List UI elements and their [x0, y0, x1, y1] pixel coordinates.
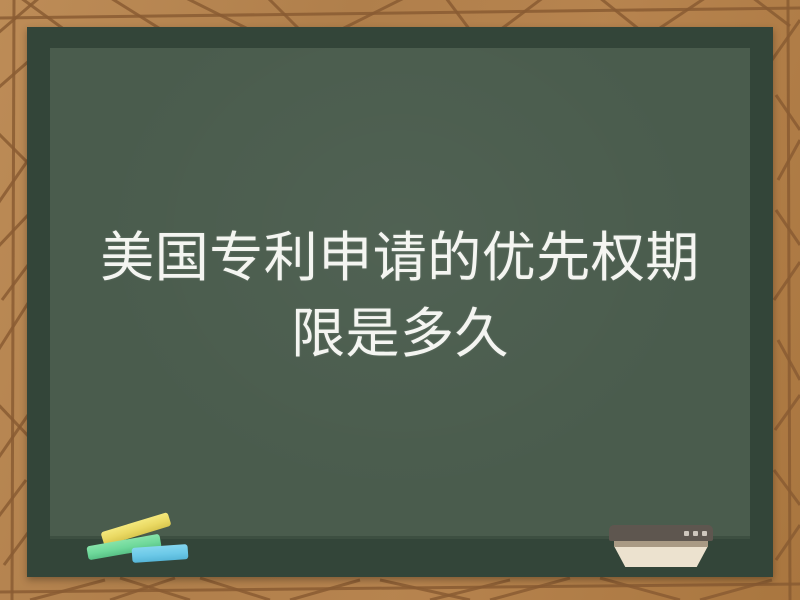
eraser-dot-icon: [693, 531, 698, 536]
eraser-stripe: [614, 540, 708, 547]
eraser-felt: [614, 546, 708, 567]
chalkboard-eraser: [609, 525, 713, 567]
board-headline-text: 美国专利申请的优先权期限是多久: [50, 220, 750, 372]
chalkboard-scene: 美国专利申请的优先权期限是多久: [0, 0, 800, 600]
eraser-handle: [609, 525, 713, 541]
eraser-dot-icon: [702, 531, 707, 536]
chalkboard: 美国专利申请的优先权期限是多久: [27, 27, 773, 577]
chalkboard-surface: 美国专利申请的优先权期限是多久: [50, 48, 750, 539]
eraser-dot-icon: [684, 531, 689, 536]
